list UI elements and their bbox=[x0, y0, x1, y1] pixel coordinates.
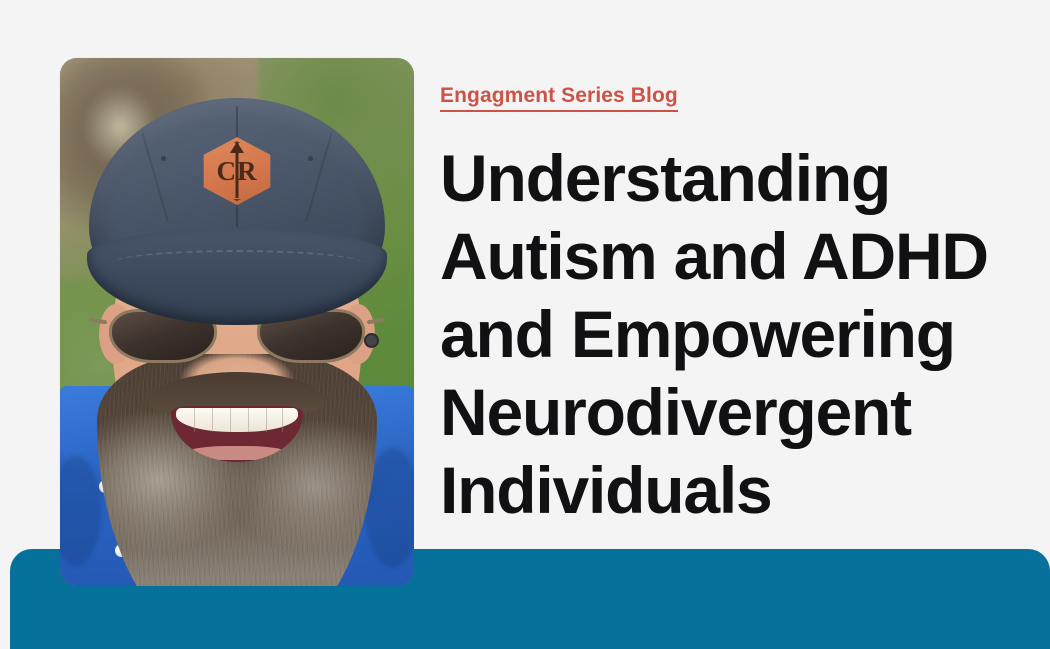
smiling-mouth bbox=[171, 406, 303, 462]
teeth-gap-4 bbox=[248, 408, 249, 432]
lower-lip bbox=[181, 446, 293, 460]
cap-eyelet-left bbox=[161, 156, 166, 161]
cap-logo-patch: CR bbox=[200, 137, 274, 205]
series-label[interactable]: Engagment Series Blog bbox=[440, 84, 678, 112]
teeth-gap-3 bbox=[230, 408, 231, 432]
cap-eyelet-right bbox=[308, 156, 313, 161]
cap-logo-arrow-icon bbox=[230, 142, 244, 153]
teeth-gap-6 bbox=[282, 408, 283, 432]
author-photo: CR bbox=[60, 58, 414, 586]
teeth-gap-1 bbox=[194, 408, 195, 432]
beard bbox=[97, 354, 377, 586]
photo-inner: CR bbox=[60, 58, 414, 586]
teeth bbox=[176, 408, 298, 432]
cap-seam-right bbox=[305, 132, 332, 221]
eyebrow-wrapper: Engagment Series Blog bbox=[440, 84, 1030, 112]
text-column: Engagment Series Blog Understanding Auti… bbox=[440, 84, 1030, 529]
page-title: Understanding Autism and ADHD and Empowe… bbox=[440, 139, 1030, 529]
cap-brim-stitching bbox=[111, 250, 363, 277]
cap-seam-left bbox=[142, 132, 169, 221]
teeth-gap-5 bbox=[266, 408, 267, 432]
teeth-gap-2 bbox=[212, 408, 213, 432]
blog-header-card: CR Engagment Series Blog Understanding A… bbox=[0, 0, 1050, 649]
